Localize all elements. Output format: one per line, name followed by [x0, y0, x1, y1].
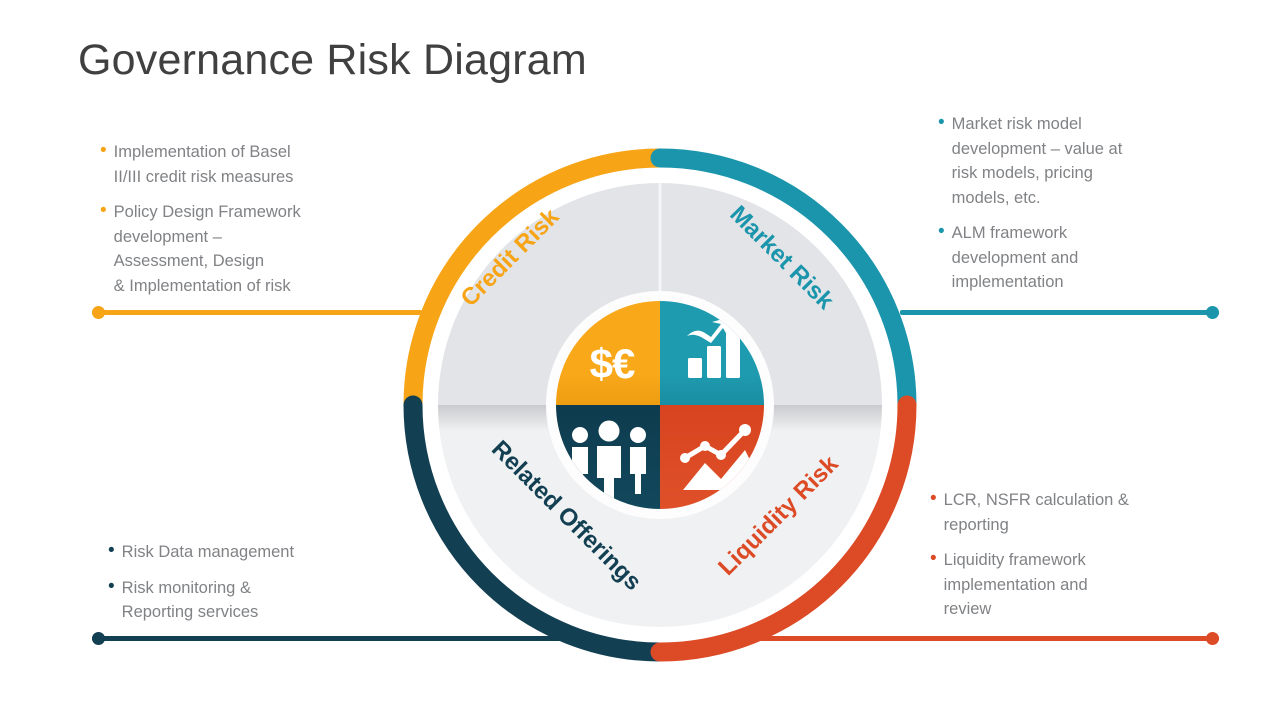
- bullet-marker-icon: •: [938, 113, 945, 132]
- bullet-marker-icon: •: [100, 201, 107, 220]
- list-item-text: Implementation of Basel II/III credit ri…: [114, 140, 294, 189]
- bullet-marker-icon: •: [930, 549, 937, 568]
- governance-risk-wheel: [395, 140, 925, 670]
- list-item: • Policy Design Framework development – …: [100, 200, 400, 298]
- page-title: Governance Risk Diagram: [78, 36, 587, 85]
- list-item-text: Market risk model development – value at…: [952, 112, 1123, 210]
- connector-endpoint-liquidity-risk: [1206, 632, 1219, 645]
- text-block-liquidity-risk: • LCR, NSFR calculation & reporting • Li…: [930, 488, 1210, 633]
- bullet-marker-icon: •: [108, 541, 115, 560]
- list-item-text: Risk monitoring & Reporting services: [122, 576, 259, 625]
- connector-line-market-risk: [900, 310, 1219, 315]
- list-item: • Risk Data management: [108, 540, 398, 565]
- list-item-text: Liquidity framework implementation and r…: [944, 548, 1088, 622]
- list-item: • ALM framework development and implemen…: [938, 221, 1208, 295]
- connector-line-credit-risk: [92, 310, 422, 315]
- list-item-text: ALM framework development and implementa…: [952, 221, 1079, 295]
- bullet-marker-icon: •: [100, 141, 107, 160]
- text-block-credit-risk: • Implementation of Basel II/III credit …: [100, 140, 400, 309]
- list-item-text: LCR, NSFR calculation & reporting: [944, 488, 1129, 537]
- bullet-marker-icon: •: [108, 577, 115, 596]
- connector-endpoint-related-offerings: [92, 632, 105, 645]
- bullet-marker-icon: •: [938, 222, 945, 241]
- connector-endpoint-market-risk: [1206, 306, 1219, 319]
- list-item: • LCR, NSFR calculation & reporting: [930, 488, 1210, 537]
- list-item: • Market risk model development – value …: [938, 112, 1208, 210]
- text-block-related-offerings: • Risk Data management • Risk monitoring…: [108, 540, 398, 636]
- text-block-market-risk: • Market risk model development – value …: [938, 112, 1208, 306]
- bullet-marker-icon: •: [930, 489, 937, 508]
- list-item: • Risk monitoring & Reporting services: [108, 576, 398, 625]
- list-item: • Liquidity framework implementation and…: [930, 548, 1210, 622]
- center-icon-circle: [556, 301, 765, 509]
- list-item-text: Risk Data management: [122, 540, 294, 565]
- list-item-text: Policy Design Framework development – As…: [114, 200, 301, 298]
- list-item: • Implementation of Basel II/III credit …: [100, 140, 400, 189]
